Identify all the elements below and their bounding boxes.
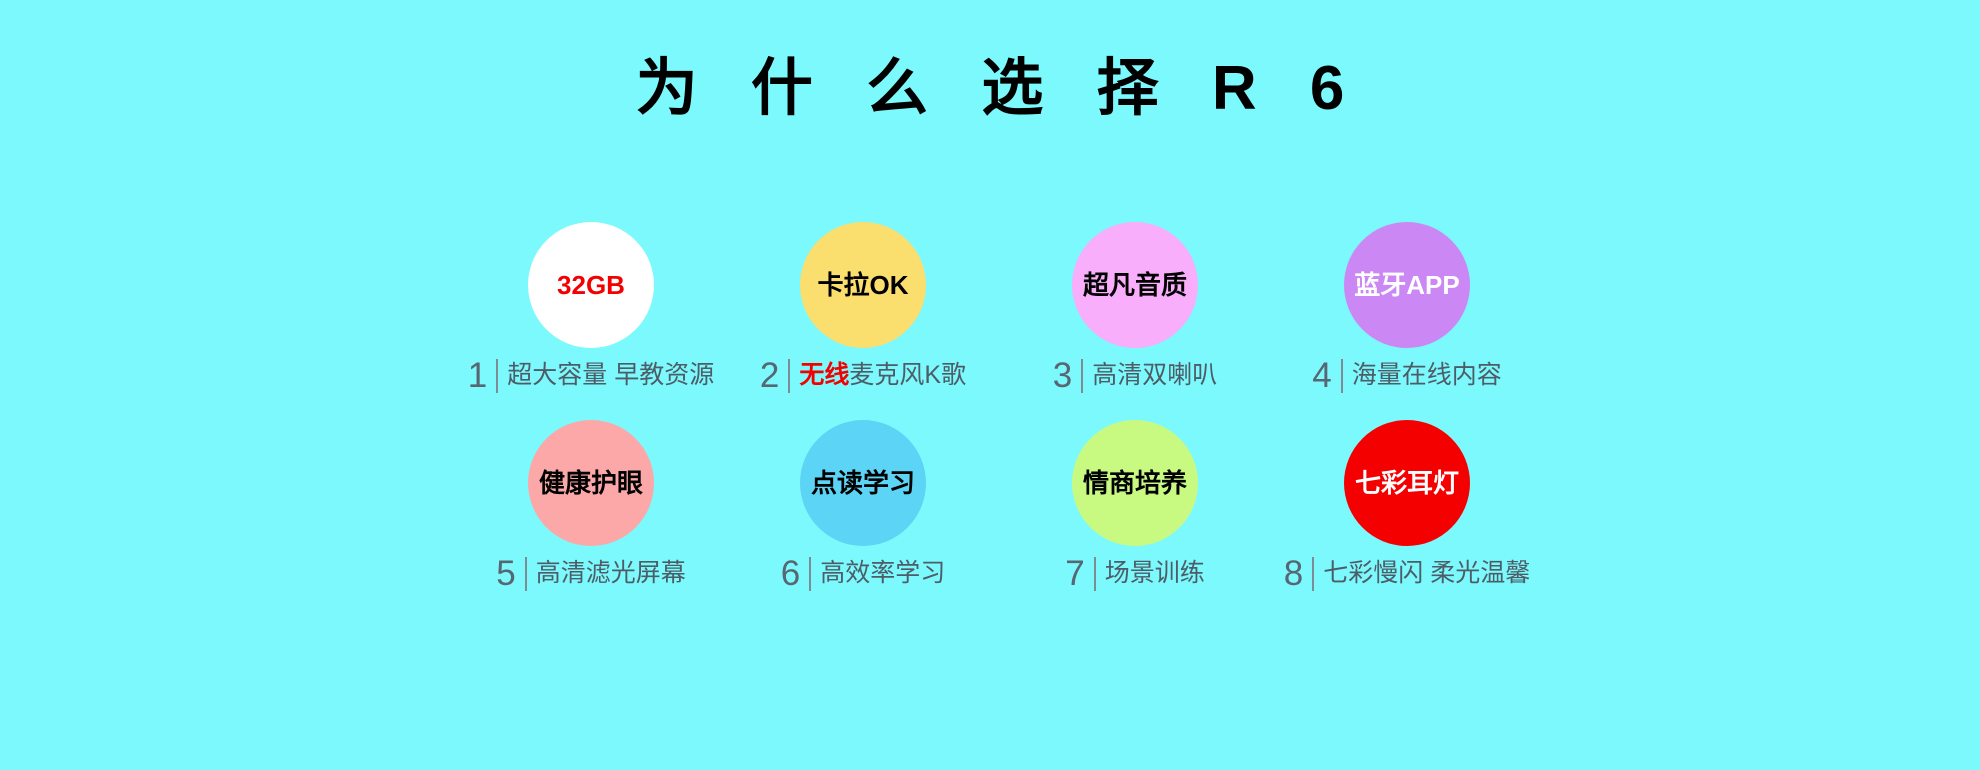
feature-caption-2: 2 无线麦克风K歌 [760, 358, 966, 393]
product-feature-poster: 为 什 么 选 择 R 6 32GB 1 超大容量 早教资源 卡拉OK 2 [0, 0, 1980, 770]
feature-number-5: 5 [496, 556, 524, 591]
feature-caption-6: 6 高效率学习 [781, 556, 945, 591]
feature-badge-label-8: 七彩耳灯 [1355, 470, 1459, 496]
feature-caption-text-1: 超大容量 早教资源 [507, 362, 714, 390]
feature-caption-body-2: 麦克风K歌 [849, 361, 966, 389]
feature-caption-body-7: 场景训练 [1105, 559, 1205, 587]
feature-badge-8[interactable]: 七彩耳灯 [1344, 420, 1470, 546]
feature-caption-8: 8 七彩慢闪 柔光温馨 [1284, 556, 1530, 591]
feature-badge-label-2: 卡拉OK [817, 272, 908, 298]
feature-badge-label-3: 超凡音质 [1083, 272, 1187, 298]
feature-badge-label-5: 健康护眼 [539, 470, 643, 496]
feature-number-8: 8 [1284, 556, 1312, 591]
feature-number-3: 3 [1053, 358, 1081, 393]
caption-divider-4 [1341, 359, 1343, 393]
feature-caption-1: 1 超大容量 早教资源 [468, 358, 714, 393]
feature-cell-5: 健康护眼 5 高清滤光屏幕 [455, 420, 727, 591]
page-title: 为 什 么 选 择 R 6 [0, 58, 1980, 120]
feature-row-1: 32GB 1 超大容量 早教资源 卡拉OK 2 无线麦克风K歌 [455, 222, 1545, 393]
feature-number-6: 6 [781, 556, 809, 591]
feature-caption-body-8: 七彩慢闪 柔光温馨 [1323, 559, 1530, 587]
feature-badge-3[interactable]: 超凡音质 [1072, 222, 1198, 348]
feature-badge-1[interactable]: 32GB [528, 222, 654, 348]
feature-caption-5: 5 高清滤光屏幕 [496, 556, 685, 591]
feature-badge-label-6: 点读学习 [811, 470, 915, 496]
feature-badge-6[interactable]: 点读学习 [800, 420, 926, 546]
caption-divider-3 [1081, 359, 1083, 393]
caption-divider-8 [1312, 557, 1314, 591]
caption-divider-7 [1094, 557, 1096, 591]
feature-caption-body-1: 超大容量 早教资源 [507, 361, 714, 389]
feature-caption-text-3: 高清双喇叭 [1092, 362, 1217, 390]
feature-number-2: 2 [760, 358, 788, 393]
feature-cell-7: 情商培养 7 场景训练 [999, 420, 1271, 591]
feature-cell-1: 32GB 1 超大容量 早教资源 [455, 222, 727, 393]
feature-number-7: 7 [1065, 556, 1093, 591]
caption-divider-5 [525, 557, 527, 591]
feature-caption-text-2: 无线麦克风K歌 [799, 362, 966, 390]
feature-badge-2[interactable]: 卡拉OK [800, 222, 926, 348]
feature-badge-label-7: 情商培养 [1083, 470, 1187, 496]
feature-caption-body-3: 高清双喇叭 [1092, 361, 1217, 389]
feature-row-2: 健康护眼 5 高清滤光屏幕 点读学习 6 高效率学习 [455, 420, 1545, 591]
feature-badge-label-1: 32GB [557, 272, 625, 298]
feature-badge-5[interactable]: 健康护眼 [528, 420, 654, 546]
caption-divider-6 [809, 557, 811, 591]
feature-caption-3: 3 高清双喇叭 [1053, 358, 1217, 393]
feature-caption-highlight-2: 无线 [799, 361, 849, 389]
caption-divider-2 [788, 359, 790, 393]
feature-cell-4: 蓝牙APP 4 海量在线内容 [1271, 222, 1543, 393]
feature-caption-body-5: 高清滤光屏幕 [536, 559, 686, 587]
feature-caption-7: 7 场景训练 [1065, 556, 1204, 591]
feature-cell-6: 点读学习 6 高效率学习 [727, 420, 999, 591]
feature-badge-7[interactable]: 情商培养 [1072, 420, 1198, 546]
feature-caption-body-6: 高效率学习 [820, 559, 945, 587]
feature-caption-4: 4 海量在线内容 [1312, 358, 1501, 393]
feature-cell-2: 卡拉OK 2 无线麦克风K歌 [727, 222, 999, 393]
feature-cell-8: 七彩耳灯 8 七彩慢闪 柔光温馨 [1271, 420, 1543, 591]
feature-number-4: 4 [1312, 358, 1340, 393]
caption-divider-1 [496, 359, 498, 393]
feature-badge-4[interactable]: 蓝牙APP [1344, 222, 1470, 348]
feature-badge-label-4: 蓝牙APP [1354, 272, 1459, 298]
feature-cell-3: 超凡音质 3 高清双喇叭 [999, 222, 1271, 393]
feature-caption-text-5: 高清滤光屏幕 [536, 560, 686, 588]
feature-caption-text-7: 场景训练 [1105, 560, 1205, 588]
feature-caption-text-6: 高效率学习 [820, 560, 945, 588]
feature-caption-body-4: 海量在线内容 [1352, 361, 1502, 389]
feature-caption-text-4: 海量在线内容 [1352, 362, 1502, 390]
feature-number-1: 1 [468, 358, 496, 393]
feature-caption-text-8: 七彩慢闪 柔光温馨 [1323, 560, 1530, 588]
